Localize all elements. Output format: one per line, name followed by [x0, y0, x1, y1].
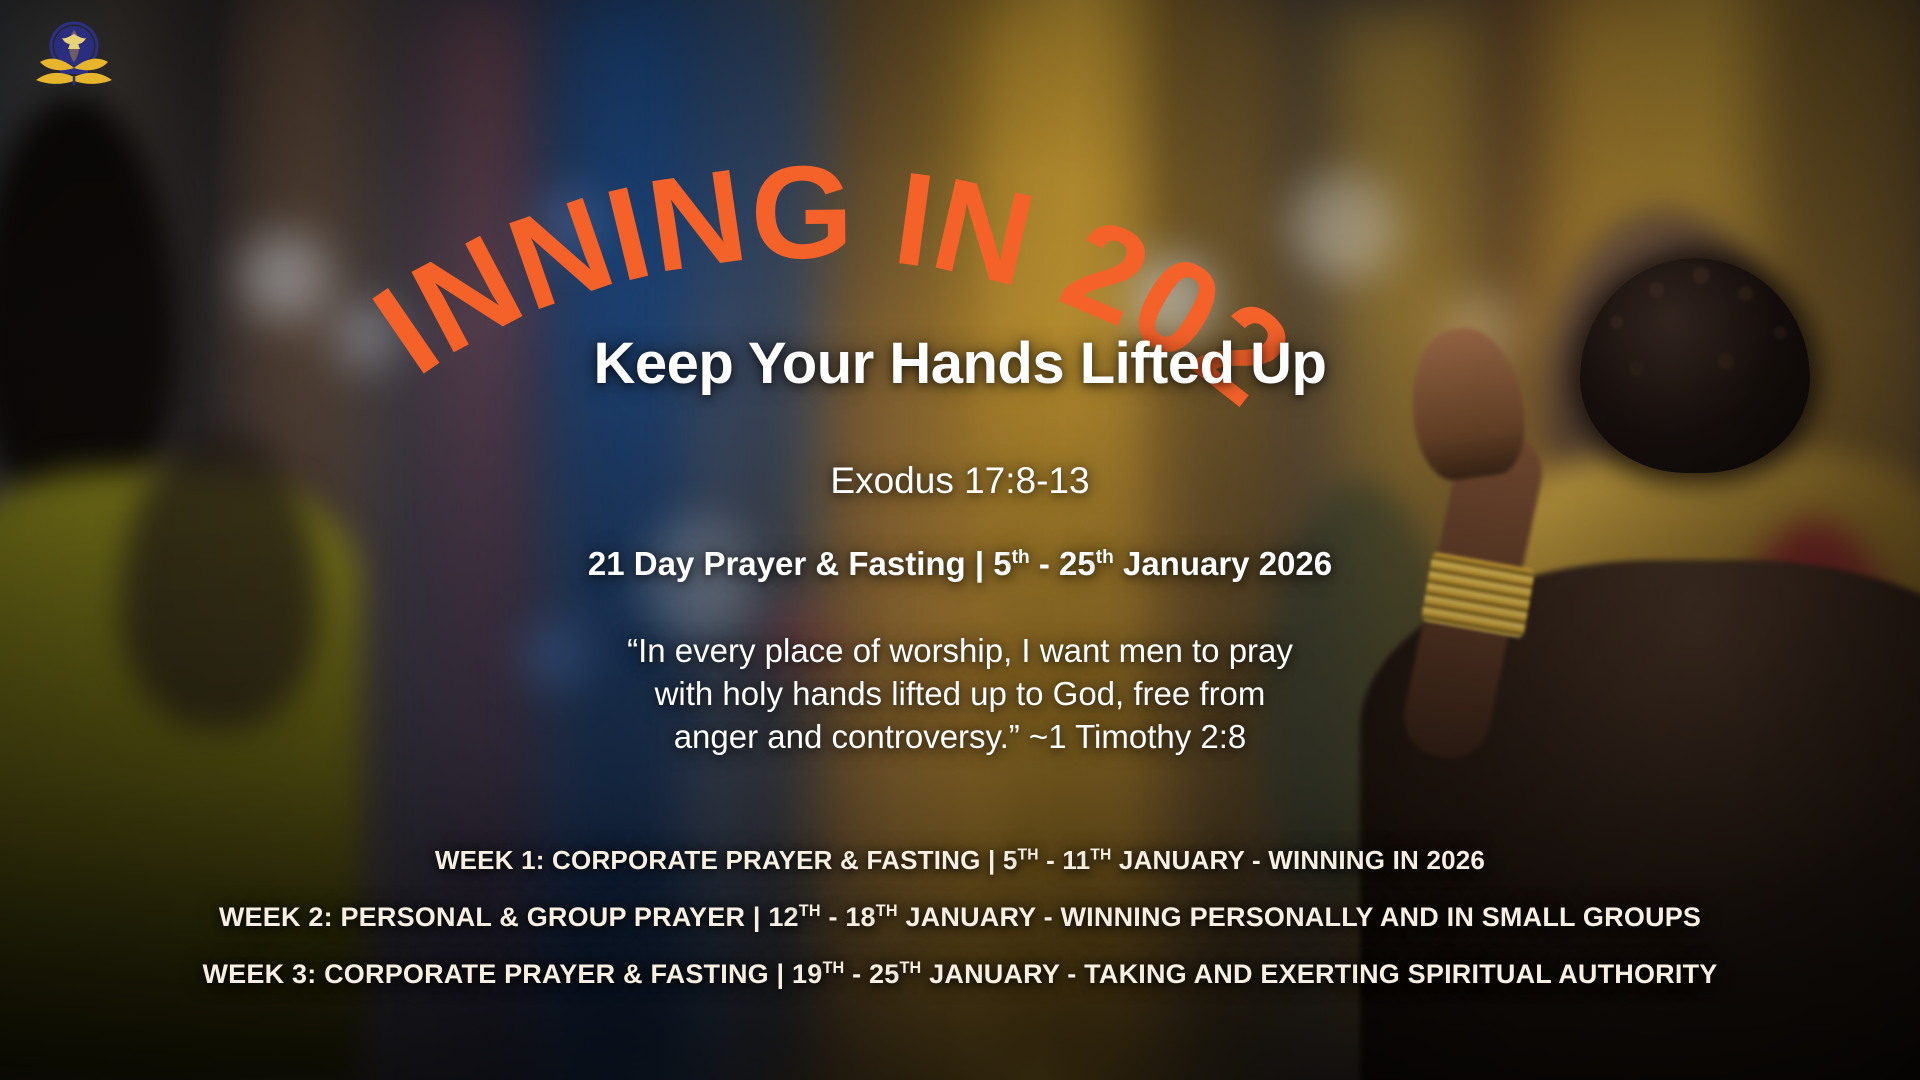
week-1-sup-2: TH: [1090, 846, 1111, 863]
quote-line-2: with holy hands lifted up to God, free f…: [0, 673, 1920, 716]
flyer-canvas: WINNING IN 2026 Keep Your Hands Lifted U…: [0, 0, 1920, 1080]
week-3-part-1: WEEK 3: CORPORATE PRAYER & FASTING | 19: [202, 959, 822, 989]
week-3-line: WEEK 3: CORPORATE PRAYER & FASTING | 19T…: [0, 959, 1920, 990]
week-3-sup-1: TH: [822, 959, 844, 977]
week-schedule: WEEK 1: CORPORATE PRAYER & FASTING | 5TH…: [0, 845, 1920, 990]
week-2-sup-2: TH: [876, 902, 898, 920]
church-logo[interactable]: [30, 18, 118, 88]
scripture-reference: Exodus 17:8-13: [0, 460, 1920, 502]
dates-sup-2: th: [1096, 547, 1114, 568]
dates-prefix: 21 Day Prayer & Fasting | 5: [588, 545, 1012, 582]
week-2-part-1: WEEK 2: PERSONAL & GROUP PRAYER | 12: [219, 902, 799, 932]
week-2-line: WEEK 2: PERSONAL & GROUP PRAYER | 12TH -…: [0, 902, 1920, 933]
week-3-part-3: JANUARY - TAKING AND EXERTING SPIRITUAL …: [921, 959, 1717, 989]
dates-middle: - 25: [1030, 545, 1096, 582]
dates-suffix: January 2026: [1114, 545, 1332, 582]
week-1-part-1: WEEK 1: CORPORATE PRAYER & FASTING | 5: [435, 845, 1018, 875]
fasting-dates: 21 Day Prayer & Fasting | 5th - 25th Jan…: [0, 545, 1920, 583]
quote-line-3: anger and controversy.” ~1 Timothy 2:8: [0, 716, 1920, 759]
dates-sup-1: th: [1012, 547, 1030, 568]
page-title: Keep Your Hands Lifted Up: [0, 330, 1920, 397]
week-2-part-2: - 18: [821, 902, 876, 932]
week-3-sup-2: TH: [899, 959, 921, 977]
scripture-quote: “In every place of worship, I want men t…: [0, 630, 1920, 759]
week-2-part-3: JANUARY - WINNING PERSONALLY AND IN SMAL…: [898, 902, 1701, 932]
quote-line-1: “In every place of worship, I want men t…: [0, 630, 1920, 673]
week-3-part-2: - 25: [844, 959, 899, 989]
week-1-line: WEEK 1: CORPORATE PRAYER & FASTING | 5TH…: [0, 845, 1920, 876]
week-1-part-3: JANUARY - WINNING IN 2026: [1111, 845, 1485, 875]
week-1-part-2: - 11: [1039, 845, 1091, 875]
week-1-sup-1: TH: [1018, 846, 1039, 863]
week-2-sup-1: TH: [799, 902, 821, 920]
